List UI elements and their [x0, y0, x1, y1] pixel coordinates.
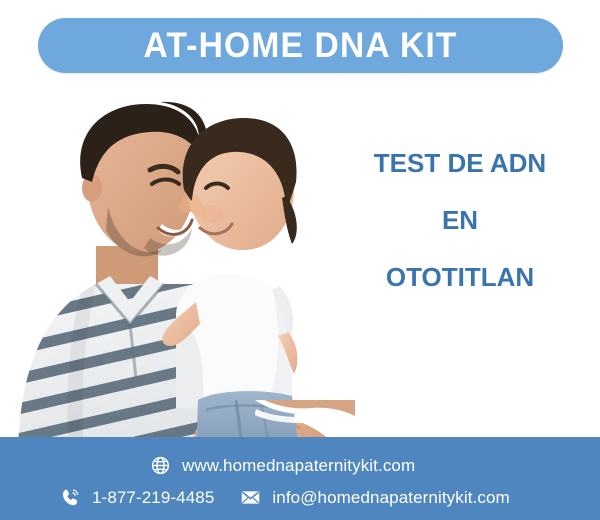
website-label: www.homednapaternitykit.com	[182, 456, 415, 476]
footer-notch	[0, 437, 269, 453]
footer-website-row: www.homednapaternitykit.com	[150, 455, 415, 476]
phone-icon	[60, 487, 81, 508]
headline-block: TEST DE ADN EN OTOTITLAN	[330, 150, 590, 290]
footer-email[interactable]: info@homednapaternitykit.com	[240, 487, 509, 508]
email-label: info@homednapaternitykit.com	[272, 488, 509, 508]
headline-line-3: OTOTITLAN	[330, 264, 590, 290]
footer-phone[interactable]: 1-877-219-4485	[60, 487, 214, 508]
footer-website[interactable]: www.homednapaternitykit.com	[150, 455, 415, 476]
globe-icon	[150, 455, 171, 476]
photo-foreground-overlap	[255, 400, 380, 446]
promo-banner-image: AT-HOME DNA KIT	[0, 0, 600, 520]
envelope-icon	[240, 487, 261, 508]
header-banner: AT-HOME DNA KIT	[38, 18, 563, 73]
footer-contact-row: 1-877-219-4485 info@homednapaternitykit.…	[60, 487, 510, 508]
headline-line-2: EN	[330, 207, 590, 233]
headline-line-1: TEST DE ADN	[330, 150, 590, 176]
banner-title: AT-HOME DNA KIT	[143, 28, 457, 63]
phone-label: 1-877-219-4485	[92, 488, 214, 508]
